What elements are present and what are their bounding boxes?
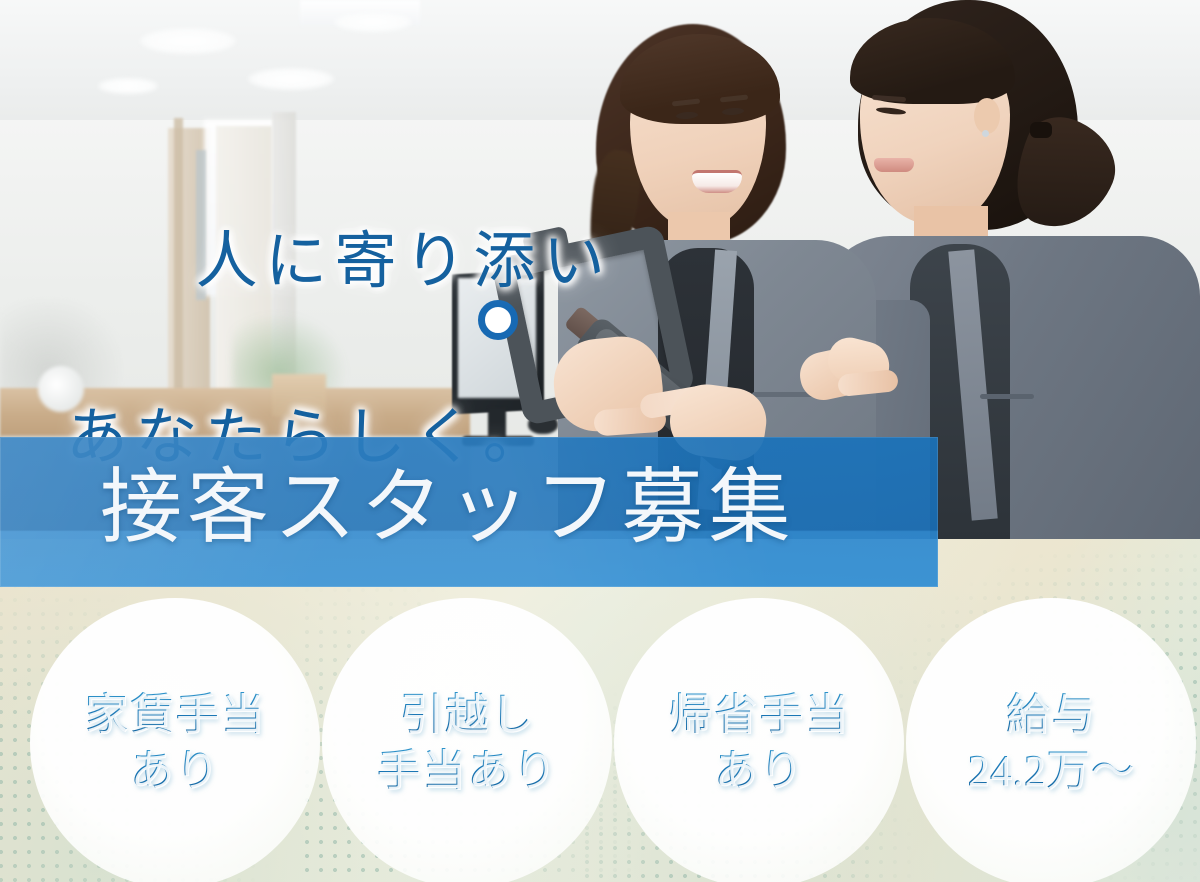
fingers [837, 369, 899, 397]
badge-line-1: 帰省手当 [668, 687, 849, 743]
ceiling-downlight [140, 28, 236, 54]
ceiling-downlight [98, 78, 158, 94]
hair-tie [1030, 122, 1052, 138]
earring [982, 130, 989, 137]
badge-line-2: 手当あり [376, 743, 557, 799]
badge-line-1: 引越し [399, 687, 535, 743]
badge-line-2: あり [714, 743, 805, 799]
badge-line-1: 給与 [1006, 687, 1097, 743]
benefit-badge-moving-allowance: 引越し 手当あり [322, 598, 612, 882]
mouth [874, 158, 914, 172]
chest-pocket [980, 394, 1034, 399]
benefits-section: 家賃手当 あり 引越し 手当あり 帰省手当 あり 給与 24.2万〜 [0, 539, 1200, 882]
benefit-badge-homecoming-allowance: 帰省手当 あり [614, 598, 904, 882]
badge-line-1: 家賃手当 [84, 687, 265, 743]
recruitment-poster: 人に寄り添い あなたらしく。 接客スタッフ募集 家賃手当 あり 引越し 手当あり… [0, 0, 1200, 882]
ear [974, 98, 1000, 134]
badge-line-2: 24.2万〜 [967, 743, 1135, 799]
benefit-badge-salary: 給与 24.2万〜 [906, 598, 1196, 882]
badge-line-2: あり [130, 743, 221, 799]
ceiling-downlight [248, 68, 334, 90]
banner-label: 接客スタッフ募集 [100, 463, 795, 553]
job-title-banner: 接客スタッフ募集 [0, 437, 938, 587]
benefit-badge-rent-allowance: 家賃手当 あり [30, 598, 320, 882]
smiling-mouth [692, 170, 742, 193]
clasped-hands [800, 338, 906, 420]
headline-line-1: 人に寄り添い [196, 228, 613, 296]
benefit-badge-list: 家賃手当 あり 引越し 手当あり 帰省手当 あり 給与 24.2万〜 [0, 539, 1200, 882]
ceiling-downlight [334, 12, 412, 32]
